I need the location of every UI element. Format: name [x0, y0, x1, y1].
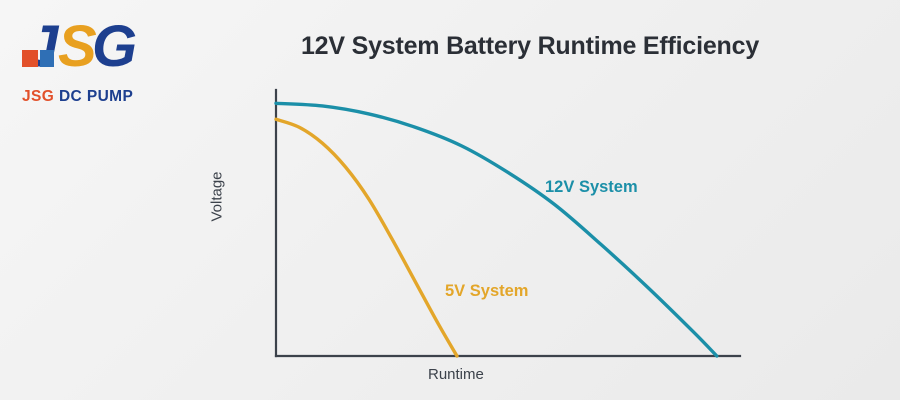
- logo-letter-s: S: [58, 18, 95, 76]
- logo-letter-g: G: [92, 18, 135, 76]
- series-line-12v-system: [276, 103, 717, 356]
- chart-title: 12V System Battery Runtime Efficiency: [190, 32, 870, 61]
- chart-plot: [200, 70, 860, 390]
- series-line-5v-system: [276, 119, 457, 356]
- logo-letter-j: J: [26, 18, 56, 76]
- logo-square-red-icon: [22, 50, 38, 67]
- brand-logo: J S G JSG DC PUMP: [18, 14, 168, 114]
- series-label-5v-system: 5V System: [445, 282, 528, 301]
- poster-canvas: J S G JSG DC PUMP 12V System Battery Run…: [0, 0, 900, 400]
- axes: [276, 90, 740, 356]
- logo-square-blue-icon: [40, 50, 54, 67]
- logo-wordmark-jsg: JSG: [22, 88, 54, 105]
- y-axis-label: Voltage: [209, 171, 226, 221]
- logo-wordmark-dc: DC PUMP: [59, 88, 133, 105]
- series-label-12v-system: 12V System: [545, 178, 638, 197]
- x-axis-label: Runtime: [428, 366, 484, 383]
- logo-mark: J S G: [18, 14, 148, 76]
- logo-wordmark: JSG DC PUMP: [22, 88, 133, 106]
- chart-container: Voltage Runtime 12V System 5V System: [200, 70, 860, 390]
